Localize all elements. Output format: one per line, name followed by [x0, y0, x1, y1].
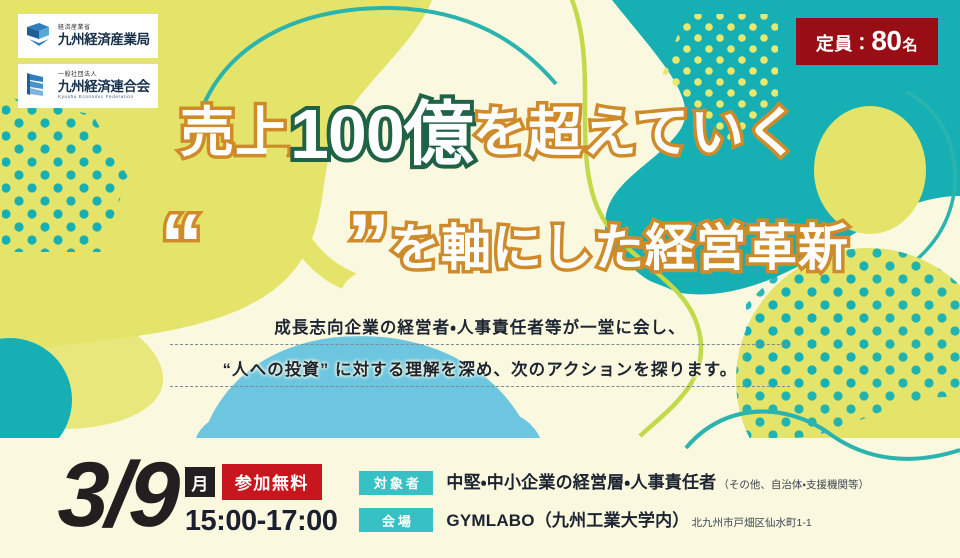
day-and-fee-row: 月 参加無料	[185, 464, 338, 500]
event-time: 15:00-17:00	[185, 505, 338, 538]
capacity-number: 80	[871, 25, 901, 57]
day-of-week-badge: 月	[185, 467, 215, 497]
event-flyer: 経済産業省 九州経済産業局 一般社団法人 九州経済連合会 Kyushu Econ…	[0, 0, 960, 558]
logo-federation-main: 九州経済連合会	[58, 80, 150, 94]
venue-address: 北九州市戸畑区仙水町1-1	[692, 517, 812, 529]
logo-meti-superscript: 経済産業省	[58, 25, 150, 31]
info-row-venue: 会場 GYMLABO（九州工業大学内）北九州市戸畑区仙水町1-1	[359, 506, 869, 533]
target-audience-note: （その他、自治体・支援機関等）	[718, 479, 869, 491]
federation-mark-icon	[23, 69, 53, 104]
capacity-unit: 名	[902, 34, 918, 55]
target-audience-main: 中堅・中小企業の経営層・人事責任者	[446, 473, 716, 492]
capacity-label: 定員：	[816, 30, 872, 56]
capacity-badge: 定員： 80 名	[796, 18, 938, 65]
info-row-target: 対象者 中堅・中小企業の経営層・人事責任者（その他、自治体・支援機関等）	[359, 468, 869, 495]
logo-kyushu-federation: 一般社団法人 九州経済連合会 Kyushu Economic Federatio…	[18, 64, 158, 108]
logo-meti-text: 経済産業省 九州経済産業局	[58, 25, 150, 47]
date-side-group: 月 参加無料 15:00-17:00	[185, 464, 338, 538]
venue-value: GYMLABO（九州工業大学内）北九州市戸畑区仙水町1-1	[446, 506, 811, 531]
logo-federation-english: Kyushu Economic Federation	[58, 95, 150, 100]
shape-lightblue-dome-top	[196, 408, 540, 438]
target-audience-label: 対象者	[359, 471, 433, 495]
shape-yellow-ellipse-right	[814, 106, 926, 234]
event-date: 3/9	[57, 458, 179, 533]
subtitle-line-1: 成長志向企業の経営者・人事責任者等が一堂に会し、	[170, 314, 790, 345]
organizer-logos: 経済産業省 九州経済産業局 一般社団法人 九州経済連合会 Kyushu Econ…	[18, 14, 158, 108]
event-details-footer: 3/9 月 参加無料 15:00-17:00 対象者 中堅・中小企業の経営層・人…	[0, 438, 960, 558]
subtitle: 成長志向企業の経営者・人事責任者等が一堂に会し、 “人への投資” に対する理解を…	[0, 314, 960, 398]
venue-main: GYMLABO（九州工業大学内）	[446, 511, 689, 530]
venue-label: 会場	[359, 508, 433, 532]
logo-federation-text: 一般社団法人 九州経済連合会 Kyushu Economic Federatio…	[58, 72, 150, 99]
logo-federation-superscript: 一般社団法人	[58, 72, 150, 78]
logo-meti-main: 九州経済産業局	[58, 33, 150, 47]
logo-meti-kyushu: 経済産業省 九州経済産業局	[18, 14, 158, 58]
meti-mark-icon	[23, 19, 53, 54]
date-block: 3/9 月 参加無料 15:00-17:00	[58, 458, 337, 538]
subtitle-line-2: “人への投資” に対する理解を深め、次のアクションを探ります。	[170, 356, 790, 387]
info-block: 対象者 中堅・中小企業の経営層・人事責任者（その他、自治体・支援機関等） 会場 …	[359, 468, 869, 532]
free-participation-badge: 参加無料	[222, 464, 322, 500]
target-audience-value: 中堅・中小企業の経営層・人事責任者（その他、自治体・支援機関等）	[446, 468, 869, 493]
